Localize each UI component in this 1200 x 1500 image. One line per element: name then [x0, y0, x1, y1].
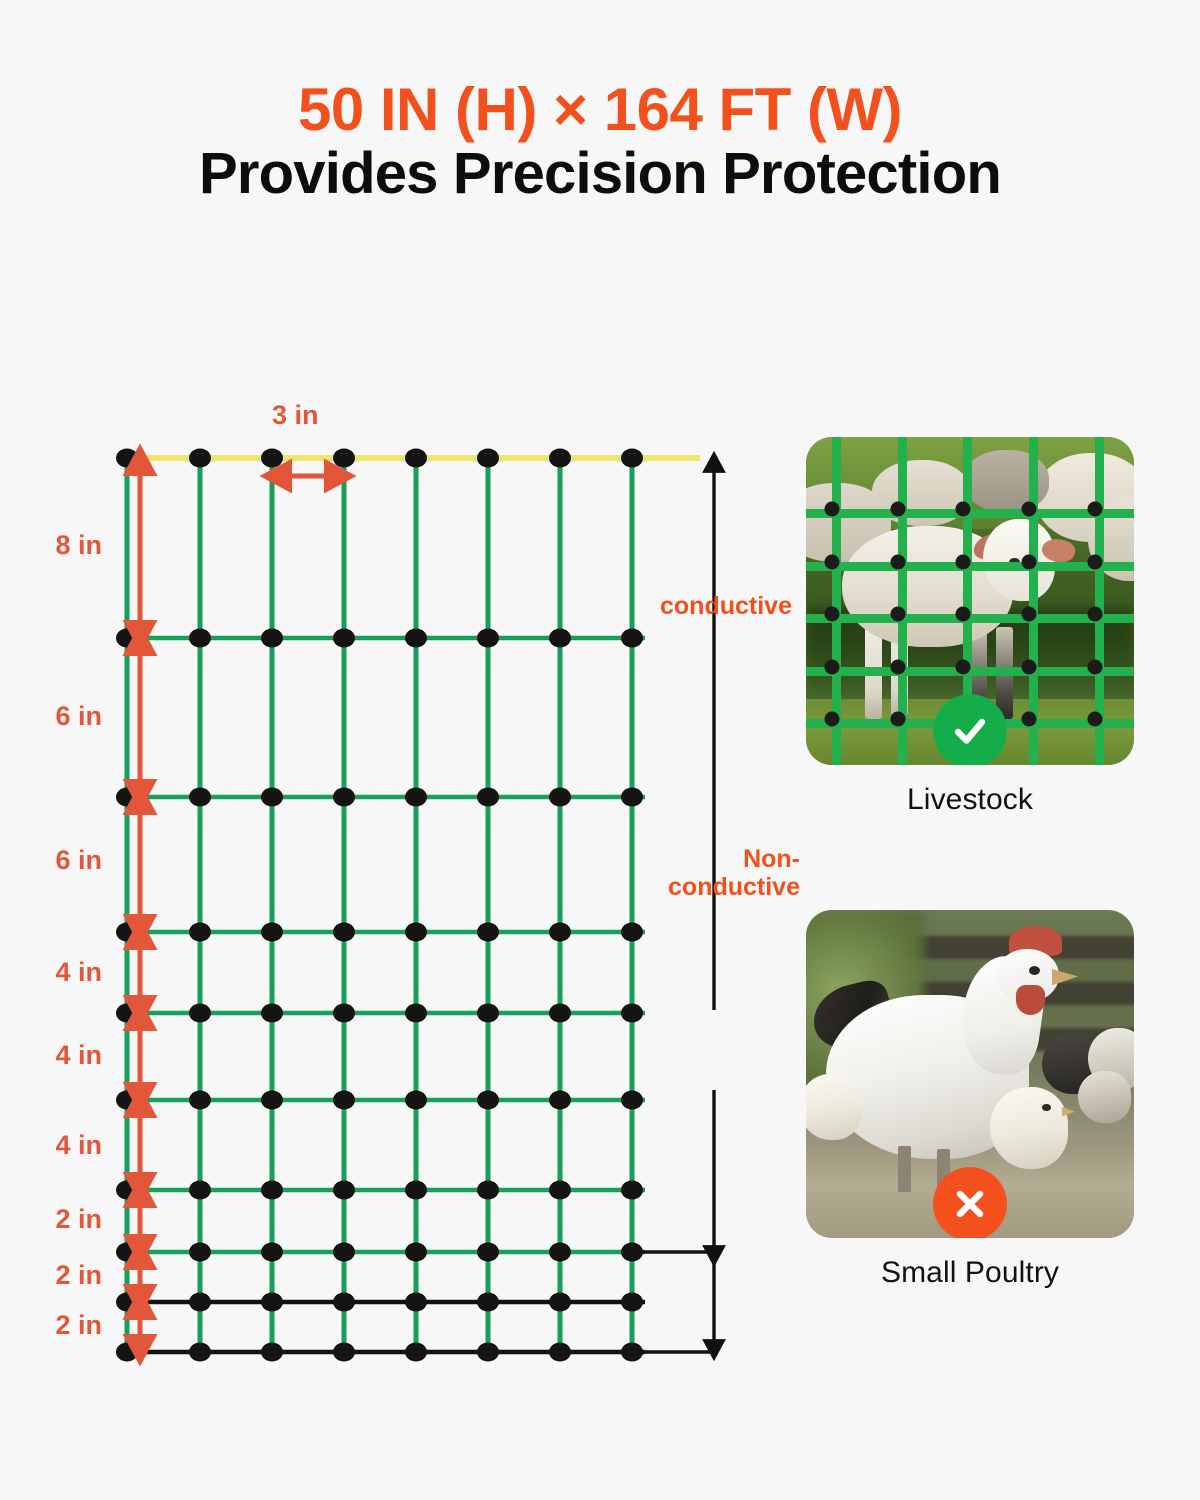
hen-leg-1	[898, 1146, 911, 1192]
fence-spacing-diagram: 3 in 8 in 6 in 6 in 4 in 4 in 4 in 2 in …	[0, 390, 760, 1400]
hen-eye	[1029, 966, 1040, 975]
conductive-callout: conductive	[660, 592, 792, 620]
vertical-wires	[127, 458, 632, 1352]
check-icon	[933, 694, 1007, 765]
dim-label-row-3: 6 in	[6, 845, 102, 876]
dim-label-row-8: 2 in	[6, 1260, 102, 1291]
fence-grid-svg	[0, 390, 760, 1400]
dim-label-row-1: 8 in	[6, 530, 102, 561]
card-livestock[interactable]: Livestock	[806, 437, 1134, 817]
chick-2-eye	[1042, 1104, 1051, 1111]
card-small-poultry[interactable]: Small Poultry	[806, 910, 1134, 1290]
dim-label-row-4: 4 in	[6, 957, 102, 988]
diagram-stage: 3 in 8 in 6 in 6 in 4 in 4 in 4 in 2 in …	[0, 0, 1200, 1500]
dim-label-row-5: 4 in	[6, 1040, 102, 1071]
nonconductive-callout: Non-conductive	[660, 845, 800, 901]
dim-label-row-6: 4 in	[6, 1130, 102, 1161]
dim-label-3in: 3 in	[272, 400, 319, 431]
card-caption-livestock: Livestock	[806, 783, 1134, 817]
grid-nodes	[116, 449, 643, 1362]
chick-2-beak	[1062, 1107, 1075, 1117]
dim-label-row-2: 6 in	[6, 701, 102, 732]
suitability-cards: Livestock	[806, 437, 1146, 1290]
dim-label-row-9: 2 in	[6, 1310, 102, 1341]
hen-wattle	[1016, 985, 1046, 1015]
chick-2	[990, 1087, 1069, 1169]
livestock-photo	[806, 437, 1134, 765]
card-caption-small-poultry: Small Poultry	[806, 1256, 1134, 1290]
cross-icon	[933, 1167, 1007, 1238]
chick-1	[806, 1074, 862, 1140]
chick-5	[1078, 1071, 1130, 1123]
poultry-photo	[806, 910, 1134, 1238]
dim-label-row-7: 2 in	[6, 1204, 102, 1235]
